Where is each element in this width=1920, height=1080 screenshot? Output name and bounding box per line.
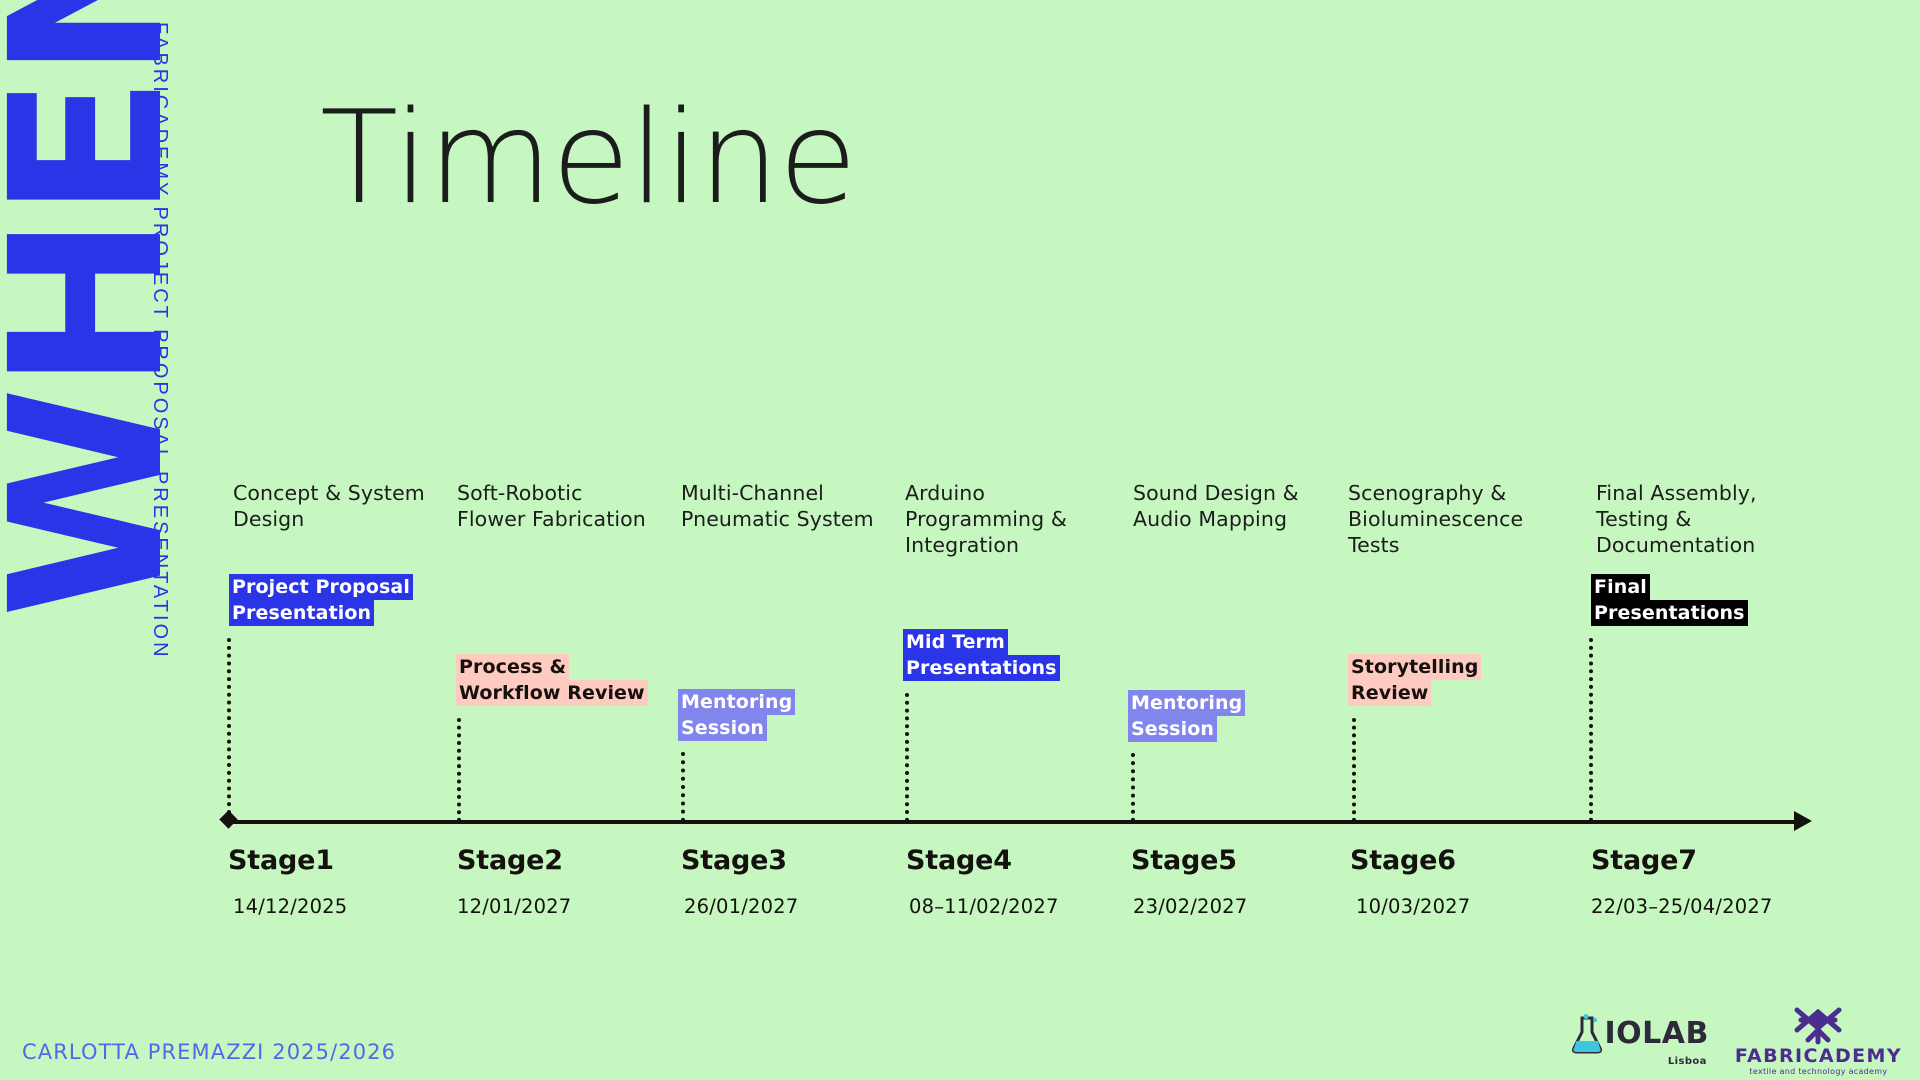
stage-name-1: Stage1 [228,845,334,876]
stage-date-5: 23/02/2027 [1133,895,1247,918]
flask-icon [1570,1014,1604,1054]
stage-column-1: Concept & System Design [233,480,433,532]
stage-name-2: Stage2 [457,845,563,876]
stage-heading: Multi-Channel Pneumatic System [681,480,886,532]
stage-heading: Final Assembly, Testing & Documentation [1596,480,1781,558]
connector-stage-5 [1131,753,1135,822]
event-tag-label: Process & Workflow Review [456,654,648,706]
biolab-sublabel: Lisboa [1668,1056,1707,1067]
stage-heading: Scenography & Bioluminescence Tests [1348,480,1548,558]
stage-date-3: 26/01/2027 [684,895,798,918]
event-tag-stage-1[interactable]: Project Proposal Presentation [229,574,419,626]
footer-logos: IOLAB Lisboa FABRICADEMY textile and tec… [1570,1006,1902,1076]
fabricademy-mark-icon [1787,1006,1849,1046]
connector-stage-3 [681,752,685,822]
event-tag-label: Final Presentations [1591,574,1748,626]
stage-name-7: Stage7 [1591,845,1697,876]
event-tag-label: Project Proposal Presentation [229,574,413,626]
stage-column-7: Final Assembly, Testing & Documentation [1596,480,1781,558]
stage-heading: Sound Design & Audio Mapping [1133,480,1333,532]
stage-column-4: Arduino Programming & Integration [905,480,1105,558]
stage-date-1: 14/12/2025 [233,895,347,918]
connector-stage-7 [1589,638,1593,822]
event-tag-stage-2[interactable]: Process & Workflow Review [456,654,648,706]
timeline: Concept & System Design Soft-Robotic Flo… [0,0,1920,1080]
axis-arrow-icon [1794,811,1812,831]
event-tag-label: Mentoring Session [1128,690,1245,742]
stage-name-6: Stage6 [1350,845,1456,876]
stage-column-5: Sound Design & Audio Mapping [1133,480,1333,532]
axis-start-marker [219,810,237,828]
stage-date-4: 08–11/02/2027 [909,895,1059,918]
stage-heading: Concept & System Design [233,480,433,532]
connector-stage-4 [905,693,909,822]
stage-column-2: Soft-Robotic Flower Fabrication [457,480,657,532]
biolab-logo: IOLAB Lisboa [1570,1014,1708,1067]
stage-name-3: Stage3 [681,845,787,876]
connector-stage-1 [227,638,231,822]
axis-line [228,820,1801,824]
event-tag-stage-5[interactable]: Mentoring Session [1128,690,1243,742]
biolab-wordmark: IOLAB [1604,1019,1708,1049]
fabricademy-logo: FABRICADEMY textile and technology acade… [1735,1006,1902,1076]
event-tag-label: Mentoring Session [678,689,795,741]
event-tag-stage-3[interactable]: Mentoring Session [678,689,793,741]
stage-name-4: Stage4 [906,845,1012,876]
event-tag-label: Mid Term Presentations [903,629,1060,681]
event-tag-stage-4[interactable]: Mid Term Presentations [903,629,1053,681]
event-tag-stage-6[interactable]: Storytelling Review [1348,654,1488,706]
connector-stage-2 [457,718,461,822]
stage-name-5: Stage5 [1131,845,1237,876]
event-tag-stage-7[interactable]: Final Presentations [1591,574,1741,626]
event-tag-label: Storytelling Review [1348,654,1481,706]
fabricademy-wordmark: FABRICADEMY [1735,1046,1902,1067]
stage-column-6: Scenography & Bioluminescence Tests [1348,480,1548,558]
stage-date-6: 10/03/2027 [1356,895,1470,918]
stage-date-2: 12/01/2027 [457,895,571,918]
fabricademy-sublabel: textile and technology academy [1749,1067,1887,1076]
stage-column-3: Multi-Channel Pneumatic System [681,480,886,532]
footer-credit: CARLOTTA PREMAZZI 2025/2026 [22,1040,396,1064]
stage-heading: Arduino Programming & Integration [905,480,1105,558]
stage-heading: Soft-Robotic Flower Fabrication [457,480,657,532]
stage-date-7: 22/03–25/04/2027 [1591,895,1773,918]
connector-stage-6 [1352,718,1356,822]
